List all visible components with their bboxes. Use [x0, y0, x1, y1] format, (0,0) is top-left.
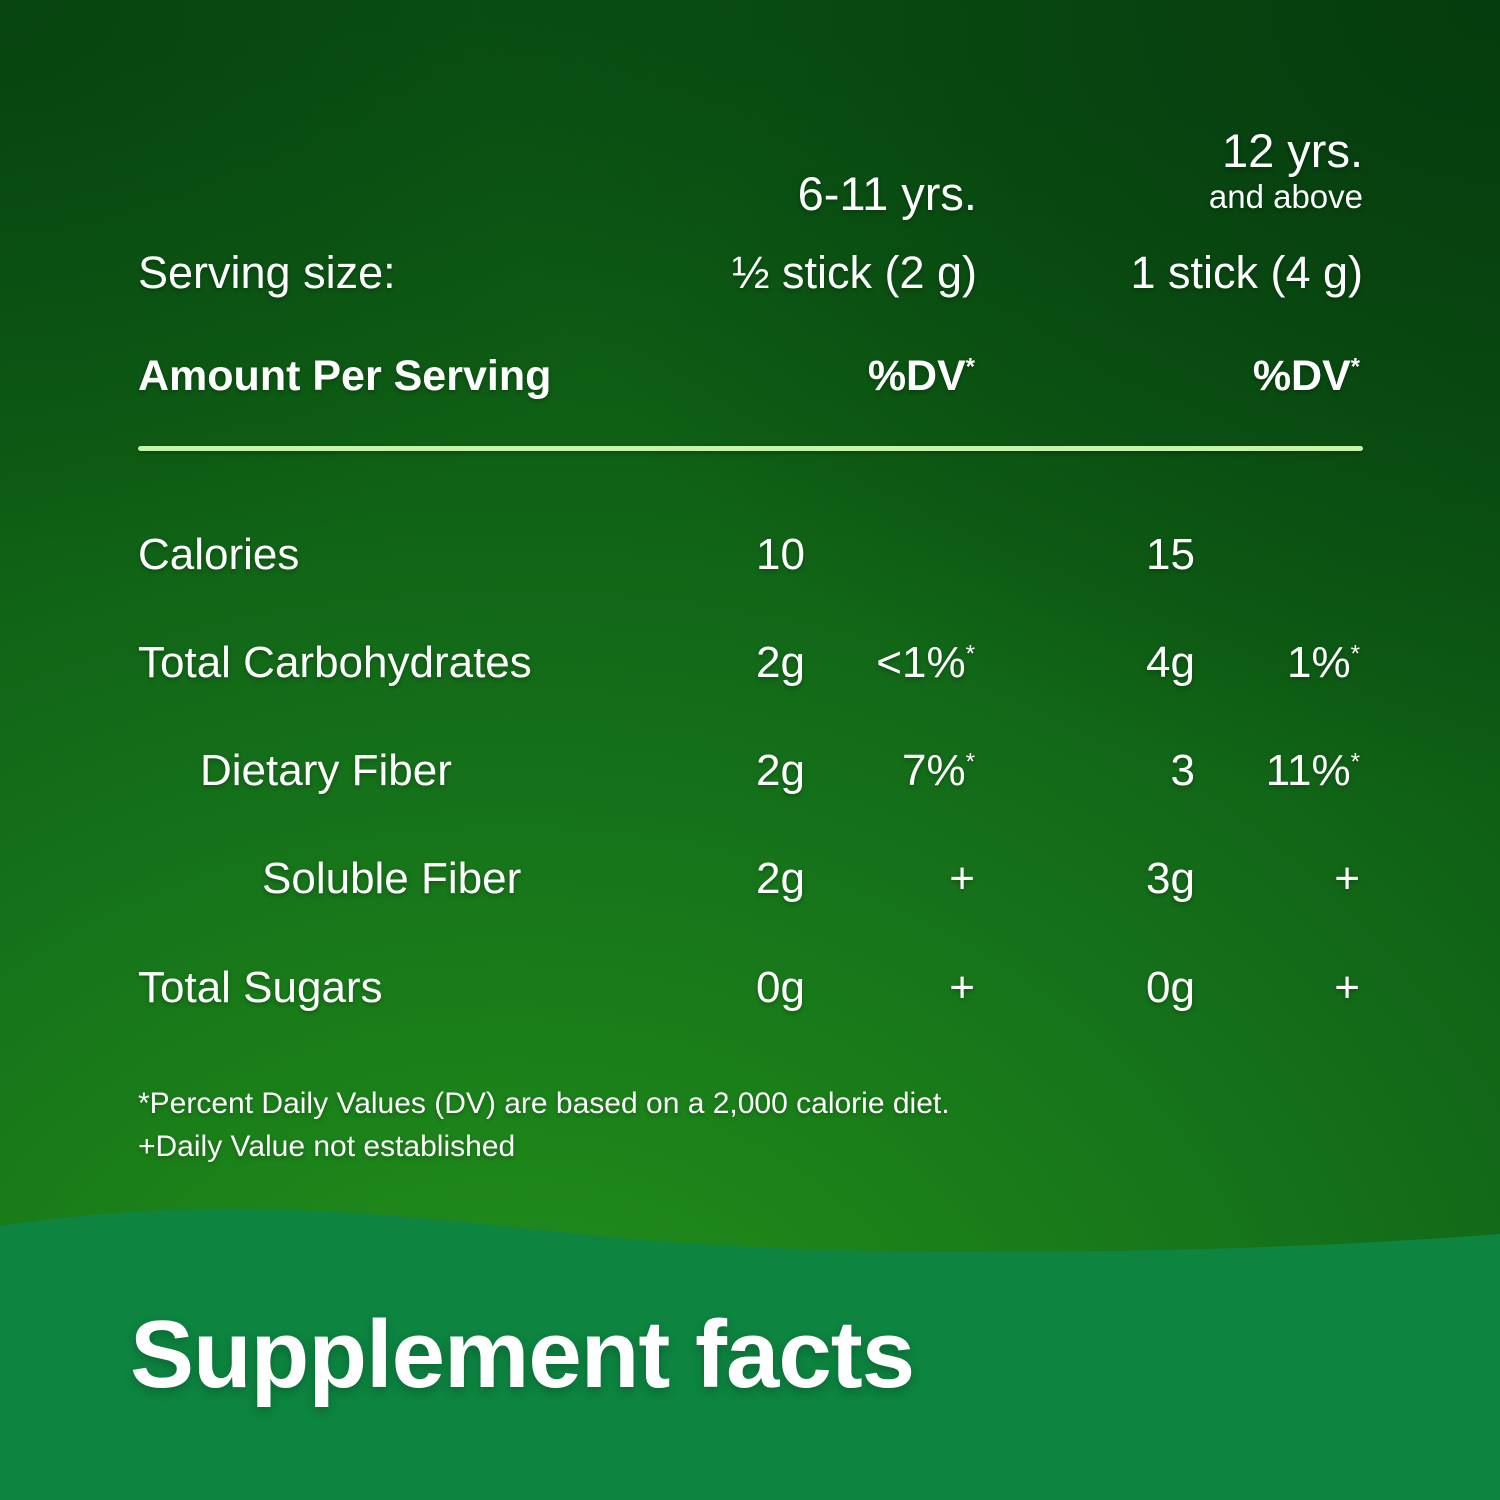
dv-header-6-11-text: %DV	[868, 352, 966, 400]
row-amount-b-calories: 15	[1146, 533, 1195, 577]
row-dv-b-total-carbohydrates: 1%*	[1287, 641, 1360, 685]
row-dv-a-total-carbohydrates-text: <1%	[876, 638, 965, 687]
row-label-total-carbohydrates: Total Carbohydrates	[138, 641, 532, 685]
row-dv-a-total-sugars: +	[949, 966, 975, 1010]
amount-per-serving-label: Amount Per Serving	[138, 355, 551, 398]
row-label-soluble-fiber: Soluble Fiber	[262, 857, 521, 901]
row-amount-a-total-carbohydrates: 2g	[756, 641, 805, 685]
row-label-total-sugars: Total Sugars	[138, 966, 383, 1010]
row-dv-b-dietary-fiber: 11%*	[1266, 749, 1360, 793]
row-dv-a-total-carbohydrates-star: *	[966, 640, 975, 667]
serving-size-value-6-11: ½ stick (2 g)	[732, 250, 977, 295]
dv-header-12-plus-star: *	[1351, 355, 1360, 381]
row-amount-b-soluble-fiber: 3g	[1146, 857, 1195, 901]
row-dv-b-soluble-fiber-text: +	[1334, 854, 1360, 903]
row-amount-b-total-carbohydrates: 4g	[1146, 641, 1195, 685]
row-dv-a-total-sugars-text: +	[949, 963, 975, 1012]
age-group-header-12-plus: 12 yrs.	[1222, 127, 1363, 174]
serving-size-value-12-plus: 1 stick (4 g)	[1130, 250, 1363, 295]
footnotes: *Percent Daily Values (DV) are based on …	[138, 1083, 1038, 1168]
row-dv-b-total-carbohydrates-text: 1%	[1287, 638, 1351, 687]
row-amount-b-total-sugars: 0g	[1146, 966, 1195, 1010]
serving-size-label: Serving size:	[138, 250, 396, 295]
supplement-facts-panel: 6-11 yrs. 12 yrs. and above Serving size…	[0, 0, 1500, 1500]
banner-title: Supplement facts	[130, 1300, 914, 1410]
footnote-daily-value-not-established: +Daily Value not established	[138, 1126, 1038, 1169]
row-label-dietary-fiber: Dietary Fiber	[200, 749, 452, 793]
row-dv-b-soluble-fiber: +	[1334, 857, 1360, 901]
row-label-calories: Calories	[138, 533, 299, 577]
row-amount-a-dietary-fiber: 2g	[756, 749, 805, 793]
row-dv-a-total-carbohydrates: <1%*	[876, 641, 975, 685]
row-amount-a-total-sugars: 0g	[756, 966, 805, 1010]
row-dv-b-total-sugars-text: +	[1334, 963, 1360, 1012]
row-dv-a-dietary-fiber: 7%*	[902, 749, 975, 793]
supplement-facts-banner: Supplement facts	[0, 1180, 1500, 1500]
row-dv-b-dietary-fiber-text: 11%	[1266, 746, 1351, 795]
row-amount-a-calories: 10	[756, 533, 805, 577]
row-dv-b-total-sugars: +	[1334, 966, 1360, 1010]
age-group-header-6-11: 6-11 yrs.	[798, 170, 977, 217]
row-dv-a-dietary-fiber-text: 7%	[902, 746, 966, 795]
header-divider	[138, 446, 1363, 451]
row-amount-a-soluble-fiber: 2g	[756, 857, 805, 901]
dv-header-6-11: %DV*	[868, 355, 975, 398]
supplement-facts-table: 6-11 yrs. 12 yrs. and above Serving size…	[0, 0, 1500, 1210]
row-dv-b-dietary-fiber-star: *	[1351, 748, 1360, 775]
dv-header-12-plus-text: %DV	[1253, 352, 1351, 400]
row-dv-b-total-carbohydrates-star: *	[1351, 640, 1360, 667]
row-dv-a-dietary-fiber-star: *	[966, 748, 975, 775]
footnote-percent-daily-values: *Percent Daily Values (DV) are based on …	[138, 1083, 1038, 1126]
dv-header-6-11-star: *	[966, 355, 975, 381]
row-amount-b-dietary-fiber: 3	[1171, 749, 1195, 793]
row-dv-a-soluble-fiber-text: +	[949, 854, 975, 903]
row-dv-a-soluble-fiber: +	[949, 857, 975, 901]
dv-header-12-plus: %DV*	[1253, 355, 1360, 398]
age-group-subheader-and-above: and above	[1209, 180, 1363, 213]
